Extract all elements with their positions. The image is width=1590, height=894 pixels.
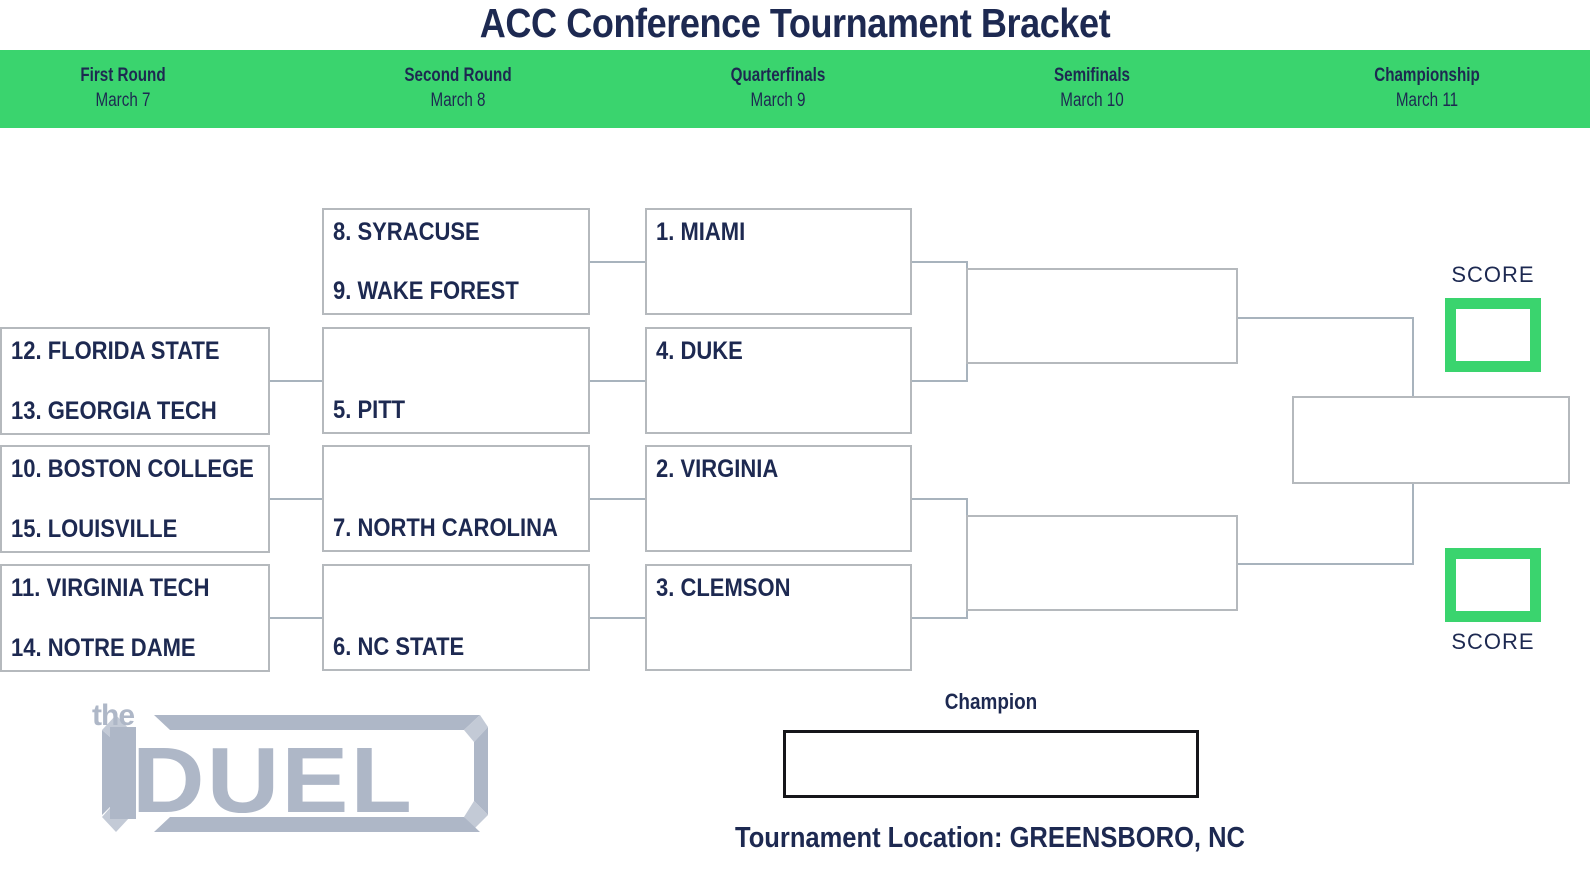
- round-name: Championship: [1329, 64, 1526, 88]
- round-date: March 11: [1329, 88, 1526, 114]
- team-slot-top: 1. MIAMI: [656, 218, 745, 247]
- round-name: Semifinals: [994, 64, 1191, 88]
- team-slot-bottom: 15. LOUISVILLE: [11, 515, 177, 544]
- score-label-bottom: SCORE: [1426, 629, 1560, 655]
- connector-quarter-to-semi-1a: [912, 261, 968, 263]
- round-header-banner: First Round March 7 Second Round March 8…: [0, 50, 1590, 128]
- quarterfinal-matchup-3[interactable]: 2. VIRGINIA: [645, 445, 912, 552]
- score-label-top: SCORE: [1426, 262, 1560, 288]
- connector-quarter-to-semi-2a: [912, 498, 968, 500]
- team-slot-top: 4. DUKE: [656, 337, 743, 366]
- connector-semi-to-final-a: [1238, 317, 1414, 319]
- connector-second-to-quarter-4: [590, 617, 645, 619]
- team-slot-top: 2. VIRGINIA: [656, 455, 778, 484]
- quarterfinal-matchup-1[interactable]: 1. MIAMI: [645, 208, 912, 315]
- champion-box[interactable]: [783, 730, 1199, 798]
- team-slot-bottom: 13. GEORGIA TECH: [11, 397, 217, 426]
- team-slot-bottom: 14. NOTRE DAME: [11, 634, 196, 663]
- round-date: March 9: [680, 88, 877, 114]
- round-name: Second Round: [360, 64, 557, 88]
- round-header-second-round: Second Round March 8: [360, 64, 557, 114]
- team-slot-bottom: 7. NORTH CAROLINA: [333, 514, 558, 543]
- logo-duel-text: DUEL: [132, 727, 414, 834]
- score-box-top[interactable]: [1445, 298, 1541, 372]
- tournament-location: Tournament Location: GREENSBORO, NC: [700, 822, 1281, 855]
- second-round-matchup-4[interactable]: 6. NC STATE: [322, 564, 590, 671]
- first-round-matchup-1[interactable]: 12. FLORIDA STATE 13. GEORGIA TECH: [0, 327, 270, 435]
- connector-first-to-second-2: [270, 498, 322, 500]
- team-slot-top: 12. FLORIDA STATE: [11, 337, 220, 366]
- connector-second-to-quarter-2: [590, 380, 645, 382]
- round-header-quarterfinals: Quarterfinals March 9: [680, 64, 877, 114]
- connector-semi-to-final-v-bottom: [1412, 480, 1414, 565]
- quarterfinal-matchup-4[interactable]: 3. CLEMSON: [645, 564, 912, 671]
- semifinal-matchup-2[interactable]: [966, 515, 1238, 611]
- champion-label: Champion: [875, 689, 1107, 715]
- first-round-matchup-2[interactable]: 10. BOSTON COLLEGE 15. LOUISVILLE: [0, 445, 270, 553]
- round-date: March 8: [360, 88, 557, 114]
- team-slot-bottom: 9. WAKE FOREST: [333, 277, 519, 306]
- round-header-championship: Championship March 11: [1329, 64, 1526, 114]
- second-round-matchup-3[interactable]: 7. NORTH CAROLINA: [322, 445, 590, 552]
- score-box-bottom[interactable]: [1445, 548, 1541, 622]
- connector-second-to-quarter-1: [590, 261, 645, 263]
- connector-quarter-to-semi-2b: [912, 617, 968, 619]
- page-title: ACC Conference Tournament Bracket: [95, 0, 1494, 48]
- connector-quarter-to-semi-1b: [912, 380, 968, 382]
- connector-second-to-quarter-3: [590, 498, 645, 500]
- championship-matchup[interactable]: [1292, 396, 1570, 484]
- first-round-matchup-3[interactable]: 11. VIRGINIA TECH 14. NOTRE DAME: [0, 564, 270, 672]
- team-slot-top: 11. VIRGINIA TECH: [11, 574, 209, 603]
- semifinal-matchup-1[interactable]: [966, 268, 1238, 364]
- round-name: First Round: [25, 64, 222, 88]
- second-round-matchup-1[interactable]: 8. SYRACUSE 9. WAKE FOREST: [322, 208, 590, 315]
- connector-first-to-second-1: [270, 380, 322, 382]
- team-slot-top: 8. SYRACUSE: [333, 218, 480, 247]
- round-header-first-round: First Round March 7: [25, 64, 222, 114]
- team-slot-top: 10. BOSTON COLLEGE: [11, 455, 254, 484]
- the-duel-logo: the DUEL: [88, 697, 488, 842]
- team-slot-top: 3. CLEMSON: [656, 574, 790, 603]
- round-header-semifinals: Semifinals March 10: [994, 64, 1191, 114]
- team-slot-bottom: 5. PITT: [333, 396, 405, 425]
- connector-semi-to-final-v-top: [1412, 317, 1414, 402]
- round-name: Quarterfinals: [680, 64, 877, 88]
- logo-the-text: the: [92, 699, 134, 733]
- quarterfinal-matchup-2[interactable]: 4. DUKE: [645, 327, 912, 434]
- round-date: March 7: [25, 88, 222, 114]
- connector-semi-to-final-b: [1238, 563, 1414, 565]
- team-slot-bottom: 6. NC STATE: [333, 633, 464, 662]
- connector-first-to-second-3: [270, 617, 322, 619]
- second-round-matchup-2[interactable]: 5. PITT: [322, 327, 590, 434]
- round-date: March 10: [994, 88, 1191, 114]
